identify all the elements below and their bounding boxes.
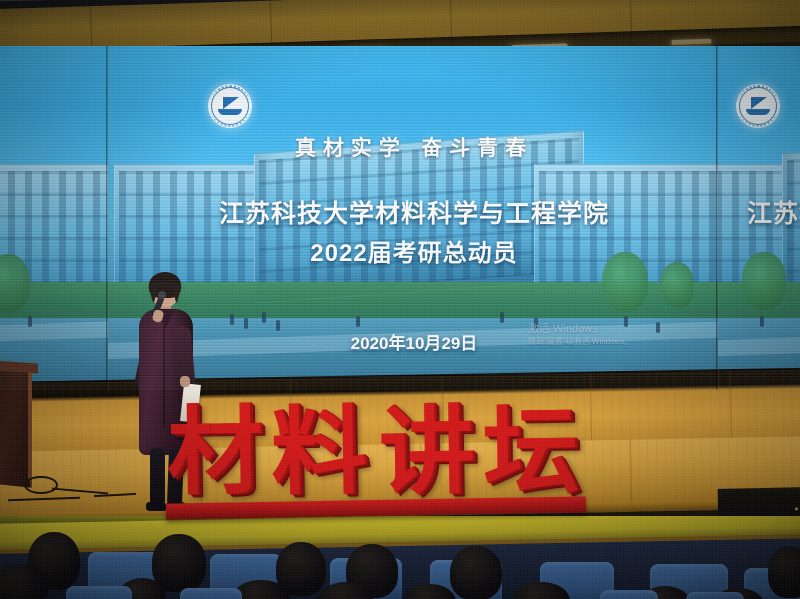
- panel-seam-right: [716, 46, 719, 390]
- red-standing-letters: 材 料 讲 坛: [166, 398, 586, 520]
- auditorium-seat: [600, 590, 658, 599]
- center-led-panel: 真材实学 奋斗青春 江苏科技大学材料科学与工程学院 2022届考研总动员 202…: [108, 46, 718, 390]
- lectern-edge: [28, 372, 32, 481]
- red-letter: 料: [269, 399, 368, 504]
- slide-title: 江苏科技大学材料科学与工程学院: [0, 194, 108, 230]
- watermark-title: 激活 Windows: [528, 322, 632, 337]
- slide-subtitle: 2022届考研总动员: [108, 233, 718, 268]
- slide-main: 真材实学 奋斗青春 江苏科技大学材料科学与工程学院 2022届考研总动员 202…: [108, 46, 718, 390]
- slide-crop-right: 真材实学 奋斗青春 江苏科技大学材料科学与工程学院 2022届考研总动员 202…: [718, 46, 800, 390]
- university-emblem-icon: [208, 84, 252, 128]
- windows-activation-watermark: 激活 Windows 转到"设置"以激活 Windows。: [528, 322, 632, 348]
- panel-seam-left: [106, 46, 109, 390]
- slide-calligraphy: 真材实学 奋斗青春: [0, 132, 108, 162]
- seated-audience: [0, 516, 800, 599]
- university-emblem-icon: [736, 84, 780, 128]
- auditorium-seat: [180, 588, 242, 599]
- auditorium-scene: 真材实学 奋斗青春 江苏科技大学材料科学与工程学院 2022届考研总动员 202…: [0, 0, 800, 599]
- left-led-panel: 真材实学 奋斗青春 江苏科技大学材料科学与工程学院 2022届考研总动员 202…: [0, 46, 108, 390]
- watermark-subtitle: 转到"设置"以激活 Windows。: [528, 337, 632, 348]
- presenter-hand: [180, 376, 190, 387]
- auditorium-seat: [66, 586, 132, 599]
- stage-cable-loop: [24, 476, 58, 494]
- audience-head: [768, 546, 800, 598]
- slide-calligraphy: 真材实学 奋斗青春: [108, 132, 718, 162]
- right-led-panel: 真材实学 奋斗青春 江苏科技大学材料科学与工程学院 2022届考研总动员 202…: [718, 46, 800, 390]
- red-letter: 讲: [377, 399, 476, 504]
- audience-head: [450, 546, 502, 599]
- slide-title: 江苏科技大学材料科学与工程学院: [108, 194, 718, 230]
- speaker-led-icon: [795, 507, 798, 510]
- slide-subtitle: 2022届考研总动员: [0, 233, 108, 268]
- slide-date: 2020年10月29日: [718, 329, 800, 354]
- red-letter: 材: [165, 399, 264, 504]
- led-screen-wall: 真材实学 奋斗青春 江苏科技大学材料科学与工程学院 2022届考研总动员 202…: [0, 46, 800, 390]
- slide-crop-left: 真材实学 奋斗青春 江苏科技大学材料科学与工程学院 2022届考研总动员 202…: [0, 46, 108, 390]
- auditorium-seat: [686, 592, 744, 599]
- red-letter: 坛: [481, 399, 580, 504]
- slide-subtitle: 2022届考研总动员: [718, 233, 800, 268]
- audience-head: [152, 534, 206, 592]
- slide-title: 江苏科技大学材料科学与工程学院: [718, 194, 800, 230]
- slide-calligraphy: 真材实学 奋斗青春: [718, 132, 800, 162]
- slide-date: 2020年10月29日: [0, 329, 108, 354]
